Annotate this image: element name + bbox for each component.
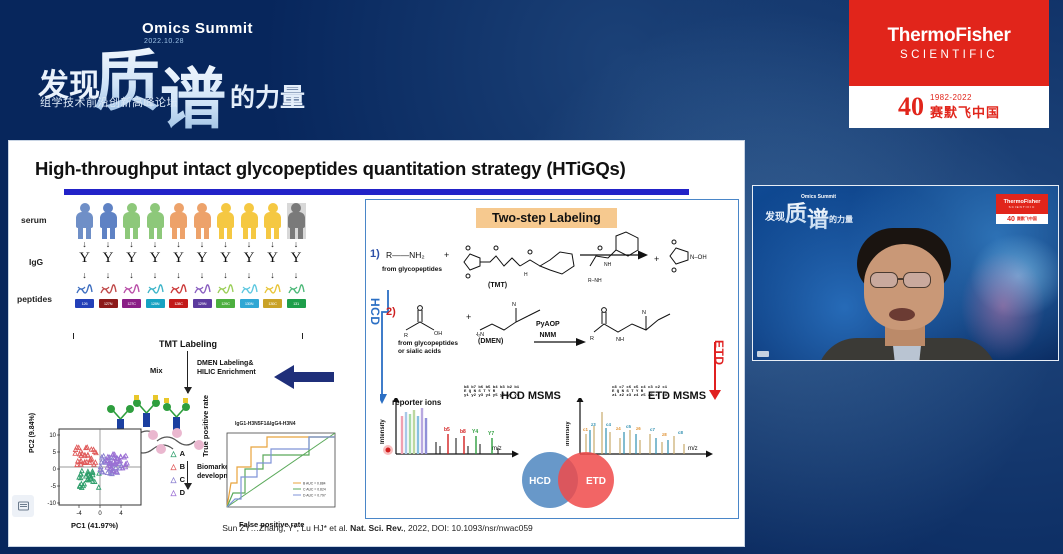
- down-arrow-icon: ↓: [122, 240, 141, 249]
- nhs-byproduct-structure: N–OH: [666, 234, 720, 280]
- tmt-channel-tag: 127N: [99, 299, 118, 308]
- step-2-source-label: from glycopeptidesor sialic acids: [398, 340, 458, 357]
- igg-antibody-icon: Y: [216, 251, 235, 266]
- svg-text:b8: b8: [460, 429, 466, 435]
- igg-antibody-icon: Y: [75, 251, 94, 266]
- tmt-channel-tag: 129C: [216, 299, 235, 308]
- svg-text:10: 10: [49, 433, 56, 439]
- step-1-source-label: from glycopeptides: [382, 266, 442, 273]
- serum-donor-figure: [240, 203, 259, 239]
- peptide-squiggle-icon: [146, 283, 165, 297]
- workflow-label-igg: IgG: [29, 257, 43, 267]
- down-arrow-icon: ↓: [240, 240, 259, 249]
- summit-logo-cn-deliliang: 的力量: [230, 78, 305, 114]
- serum-donor-figures: [75, 203, 306, 239]
- webcam-logo-english-title: Omics Summit: [801, 194, 836, 200]
- svg-text:m/z: m/z: [688, 446, 698, 452]
- anniversary-cn-name: 赛默飞中国: [930, 102, 1000, 121]
- svg-text:Y7: Y7: [488, 431, 494, 437]
- step-1-plus-sign: +: [444, 250, 449, 260]
- anniversary-text: 1982-2022 赛默飞中国: [930, 93, 1000, 121]
- down-arrow-icon: ↓: [75, 240, 94, 249]
- webcam-anniversary-cn-name: 赛默飞中国: [1017, 216, 1037, 222]
- peptide-squiggle-icon: [75, 283, 94, 297]
- citation-authors: Sun ZY…Zhang, Y*, Lu HJ* et al.: [222, 523, 350, 533]
- peptide-squiggle-icon: [287, 283, 306, 297]
- down-arrow-icon: ↓: [263, 271, 282, 280]
- anniversary-years: 1982-2022: [930, 93, 1000, 102]
- thermo-fisher-wordmark: ThermoFisher SCIENTIFIC: [849, 0, 1049, 86]
- down-arrow-icon: ↓: [169, 271, 188, 280]
- svg-text:NH: NH: [604, 262, 612, 268]
- svg-text:HCD: HCD: [529, 476, 551, 487]
- serum-donor-figure: [122, 203, 141, 239]
- svg-text:ETD: ETD: [586, 476, 606, 487]
- svg-text:c4: c4: [606, 422, 611, 427]
- screen-share-indicator[interactable]: [12, 495, 34, 517]
- svg-text:0: 0: [53, 467, 57, 473]
- webcam-thermo-wordmark: ThermoFisher SCIENTIFIC: [996, 194, 1048, 214]
- tmt-channel-tag: 129N: [193, 299, 212, 308]
- down-arrow-icon: ↓: [193, 271, 212, 280]
- svg-text:H: H: [524, 272, 528, 278]
- roc-curve-plot: IgG1-H3N5F1&IgG4-H3N4 True positive rate…: [205, 423, 355, 535]
- workflow-label-peptides: peptides: [17, 294, 52, 304]
- etd-peptide-sequence-annotation: c8 c7 c6 c5 c4 c3 c2 c1E Q N S T Y Rz1 z…: [612, 386, 667, 399]
- down-arrow-icon: ↓: [240, 271, 259, 280]
- slide-title: High-throughput intact glycopeptides qua…: [35, 158, 626, 180]
- webcam-summit-logo: 质 谱 发现 的力量 Omics Summit: [765, 194, 857, 228]
- down-arrow-icon: ↓: [216, 240, 235, 249]
- down-arrow-icon: ↓: [216, 271, 235, 280]
- svg-text:R: R: [590, 336, 594, 342]
- roc-y-axis-label: True positive rate: [201, 395, 210, 457]
- igg-antibody-icon: Y: [99, 251, 118, 266]
- down-arrow-icon: ↓: [287, 240, 306, 249]
- thermo-fisher-name: ThermoFisher: [887, 25, 1010, 47]
- tmt-reagent-structure: H: [462, 236, 582, 286]
- serum-donor-figure: [263, 203, 282, 239]
- peptide-squiggles: [75, 283, 306, 297]
- pca-legend-item: △C: [171, 473, 185, 486]
- biomarker-arrow-icon: [187, 461, 188, 489]
- peptide-squiggle-icon: [99, 283, 118, 297]
- peptide-squiggle-icon: [240, 283, 259, 297]
- svg-text:-4: -4: [76, 511, 82, 517]
- eyeglasses-right-lens: [903, 272, 931, 288]
- slide-citation: Sun ZY…Zhang, Y*, Lu HJ* et al. Nat. Sci…: [9, 523, 746, 533]
- dmen-hilic-step-label: DMEN Labeling&HILIC Enrichment: [197, 359, 256, 378]
- svg-text:m/z: m/z: [492, 446, 502, 452]
- svg-text:NH: NH: [616, 337, 624, 343]
- svg-text:Intensity: Intensity: [380, 419, 386, 444]
- svg-text:R: R: [404, 333, 408, 339]
- hcd-peptide-sequence-annotation: b8 b7 b6 b5 b4 b3 b2 b1E Q N S T Y Ry1 y…: [464, 386, 519, 399]
- svg-text:c1: c1: [583, 427, 588, 432]
- peptide-squiggle-icon: [122, 283, 141, 297]
- down-arrow-icon: ↓: [169, 240, 188, 249]
- svg-text:Y4: Y4: [472, 429, 478, 435]
- peptide-squiggle-icon: [216, 283, 235, 297]
- svg-text:c7: c7: [650, 427, 655, 432]
- down-arrow-icon: ↓: [146, 271, 165, 280]
- down-arrow-icon: ↓: [122, 271, 141, 280]
- svg-text:c5: c5: [626, 424, 631, 429]
- igg-antibody-icon: Y: [240, 251, 259, 266]
- presenter-mouth: [889, 308, 915, 321]
- tmt-channel-tag: 131: [287, 299, 306, 308]
- webcam-thermo-fisher-logo: ThermoFisher SCIENTIFIC 40 赛默飞中国: [996, 194, 1048, 224]
- tmt-channel-tag: 128C: [169, 299, 188, 308]
- serum-donor-figure: [99, 203, 118, 239]
- webcam-logo-cn-zhi: 质: [785, 196, 807, 228]
- pca-plot-canvas: 1050-5-10 -404: [31, 423, 181, 519]
- peptide-squiggle-icon: [169, 283, 188, 297]
- igg-antibody-icon: Y: [193, 251, 212, 266]
- peptide-squiggle-icon: [193, 283, 212, 297]
- down-arrow-icon: ↓: [75, 271, 94, 280]
- mix-arrow-icon: [187, 351, 188, 393]
- svg-text:N: N: [642, 310, 646, 316]
- pca-scatter-plot: PC2 (9.84%) 1050-5-10 -404 PC1 (41.97%) …: [31, 423, 181, 535]
- tmt-channel-tag: 130C: [263, 299, 282, 308]
- svg-text:z6: z6: [636, 426, 641, 431]
- igg-antibody-symbols: YYYYYYYYYY: [75, 251, 306, 266]
- anniversary-number: 40: [898, 92, 924, 122]
- svg-text:N: N: [512, 302, 516, 308]
- svg-text:z8: z8: [662, 432, 667, 437]
- omics-summit-logo: Omics Summit 2022.10.28 发现 质 谱 的力量 组学技术前…: [32, 16, 312, 126]
- down-arrow-icon: ↓: [146, 240, 165, 249]
- roc-plot-canvas: B AUC = 0.884 C AUC = 0.824 D AUC = 0.79…: [205, 423, 355, 519]
- igg-antibody-icon: Y: [169, 251, 188, 266]
- svg-text:R–NH: R–NH: [588, 278, 602, 284]
- down-arrow-icon: ↓: [99, 240, 118, 249]
- igg-to-peptides-arrows: ↓↓↓↓↓↓↓↓↓↓: [75, 271, 306, 280]
- roc-plot-title: IgG1-H3N5F1&IgG4-H3N4: [235, 421, 296, 427]
- presenter-webcam-feed[interactable]: 质 谱 发现 的力量 Omics Summit ThermoFisher SCI…: [752, 185, 1059, 361]
- dmen-reagent-caption: (DMEN): [478, 338, 503, 345]
- citation-details: , 2022, DOI: 10.1093/nsr/nwac059: [403, 523, 532, 533]
- webcam-control-badge[interactable]: [757, 351, 769, 357]
- webcam-thermo-tagline: SCIENTIFIC: [1009, 205, 1036, 209]
- down-arrow-icon: ↓: [99, 271, 118, 280]
- svg-text:-5: -5: [51, 484, 57, 490]
- tmt-channel-tag: 126: [75, 299, 94, 308]
- step-1-number: 1): [370, 248, 380, 260]
- tmt-reagent-caption: (TMT): [488, 282, 507, 289]
- hcd-etd-venn-diagram: HCD ETD: [504, 450, 634, 510]
- anniversary-badge: 40 1982-2022 赛默飞中国: [849, 86, 1049, 128]
- svg-text:5: 5: [53, 450, 57, 456]
- serum-donor-figure: [75, 203, 94, 239]
- tmt-channel-tags: 126127N127C128N128C129N129C130N130C131: [75, 299, 306, 308]
- peptide-squiggle-icon: [263, 283, 282, 297]
- svg-text:z3: z3: [591, 422, 596, 427]
- serum-donor-figure: [146, 203, 165, 239]
- down-arrow-icon: ↓: [287, 271, 306, 280]
- catalyst-pyaop: PyAOP: [536, 321, 560, 328]
- etd-branch-arrow-icon: [708, 342, 722, 402]
- two-step-labeling-panel: Two-step Labeling 1) R——NH₂ from glycope…: [365, 199, 739, 519]
- pca-legend: △A△B△C△D: [171, 447, 185, 499]
- tmt-labeling-label: TMT Labeling: [73, 339, 303, 349]
- svg-text:B AUC = 0.884: B AUC = 0.884: [303, 482, 326, 486]
- step-2-reaction-arrow-icon: [534, 336, 586, 348]
- svg-text:c8: c8: [678, 430, 683, 435]
- two-step-labeling-header: Two-step Labeling: [476, 208, 617, 228]
- serum-to-igg-arrows: ↓↓↓↓↓↓↓↓↓↓: [75, 240, 306, 249]
- thermo-fisher-tagline: SCIENTIFIC: [900, 49, 998, 61]
- webcam-logo-cn-pu: 谱: [807, 202, 829, 234]
- mix-label: Mix: [150, 366, 163, 375]
- pca-legend-item: △A: [171, 447, 185, 460]
- webcam-anniversary-number: 40: [1007, 216, 1015, 223]
- eyeglasses-bridge: [898, 278, 903, 280]
- share-icon: [18, 501, 29, 512]
- step-1-product-structure: NH R–NH: [588, 230, 650, 286]
- presentation-slide[interactable]: High-throughput intact glycopeptides qua…: [8, 140, 745, 547]
- left-pointing-arrow-icon: [274, 363, 334, 391]
- down-arrow-icon: ↓: [263, 240, 282, 249]
- serum-donor-figure: [287, 203, 306, 239]
- serum-donor-figure: [193, 203, 212, 239]
- svg-text:0: 0: [98, 511, 102, 517]
- tmt-channel-tag: 130N: [240, 299, 259, 308]
- presenter-figure: [831, 228, 981, 361]
- down-arrow-icon: ↓: [193, 240, 212, 249]
- step-2-carboxylic-acid-structure: R OH: [404, 304, 466, 344]
- webcam-logo-cn-faxian: 发现: [765, 208, 785, 223]
- summit-logo-subtitle: 组学技术前沿创新高峰论坛: [40, 94, 178, 110]
- workflow-label-serum: serum: [21, 215, 47, 225]
- webcam-anniversary-badge: 40 赛默飞中国: [996, 214, 1048, 224]
- svg-text:4: 4: [119, 511, 123, 517]
- svg-text:N–OH: N–OH: [690, 255, 707, 261]
- igg-antibody-icon: Y: [122, 251, 141, 266]
- svg-text:b5: b5: [444, 427, 450, 433]
- step-2-number: 2): [386, 306, 396, 318]
- eyeglasses-left-lens: [870, 272, 898, 288]
- step-1-reactant: R——NH₂: [386, 250, 425, 260]
- igg-antibody-icon: Y: [263, 251, 282, 266]
- tmt-channel-tag: 127C: [122, 299, 141, 308]
- citation-journal: Nat. Sci. Rev.: [350, 523, 403, 533]
- step-2-plus-sign: +: [466, 312, 471, 322]
- tmt-channel-tag: 128N: [146, 299, 165, 308]
- serum-donor-figure: [216, 203, 235, 239]
- title-underline-rule: [64, 189, 689, 195]
- step-2-amide-product-structure: N R NH: [590, 292, 680, 348]
- svg-text:OH: OH: [434, 331, 442, 337]
- igg-antibody-icon: Y: [287, 251, 306, 266]
- hcd-msms-spectrum: Intensity m/z: [380, 398, 520, 460]
- svg-text:D AUC = 0.797: D AUC = 0.797: [303, 494, 326, 498]
- pca-legend-item: △B: [171, 460, 185, 473]
- svg-text:-10: -10: [47, 501, 56, 507]
- event-header-banner: Omics Summit 2022.10.28 发现 质 谱 的力量 组学技术前…: [0, 0, 1063, 137]
- svg-text:Intensity: Intensity: [566, 421, 571, 446]
- igg-antibody-icon: Y: [146, 251, 165, 266]
- svg-text:z4: z4: [616, 426, 621, 431]
- step-1-product-plus-sign: +: [654, 254, 659, 264]
- pca-y-axis-label: PC2 (9.84%): [29, 413, 36, 453]
- pca-legend-item: △D: [171, 486, 185, 499]
- thermo-fisher-logo: ThermoFisher SCIENTIFIC 40 1982-2022 赛默飞…: [849, 0, 1049, 128]
- serum-donor-figure: [169, 203, 188, 239]
- webcam-logo-cn-deliliang: 的力量: [829, 214, 853, 225]
- svg-text:C AUC = 0.824: C AUC = 0.824: [303, 488, 326, 492]
